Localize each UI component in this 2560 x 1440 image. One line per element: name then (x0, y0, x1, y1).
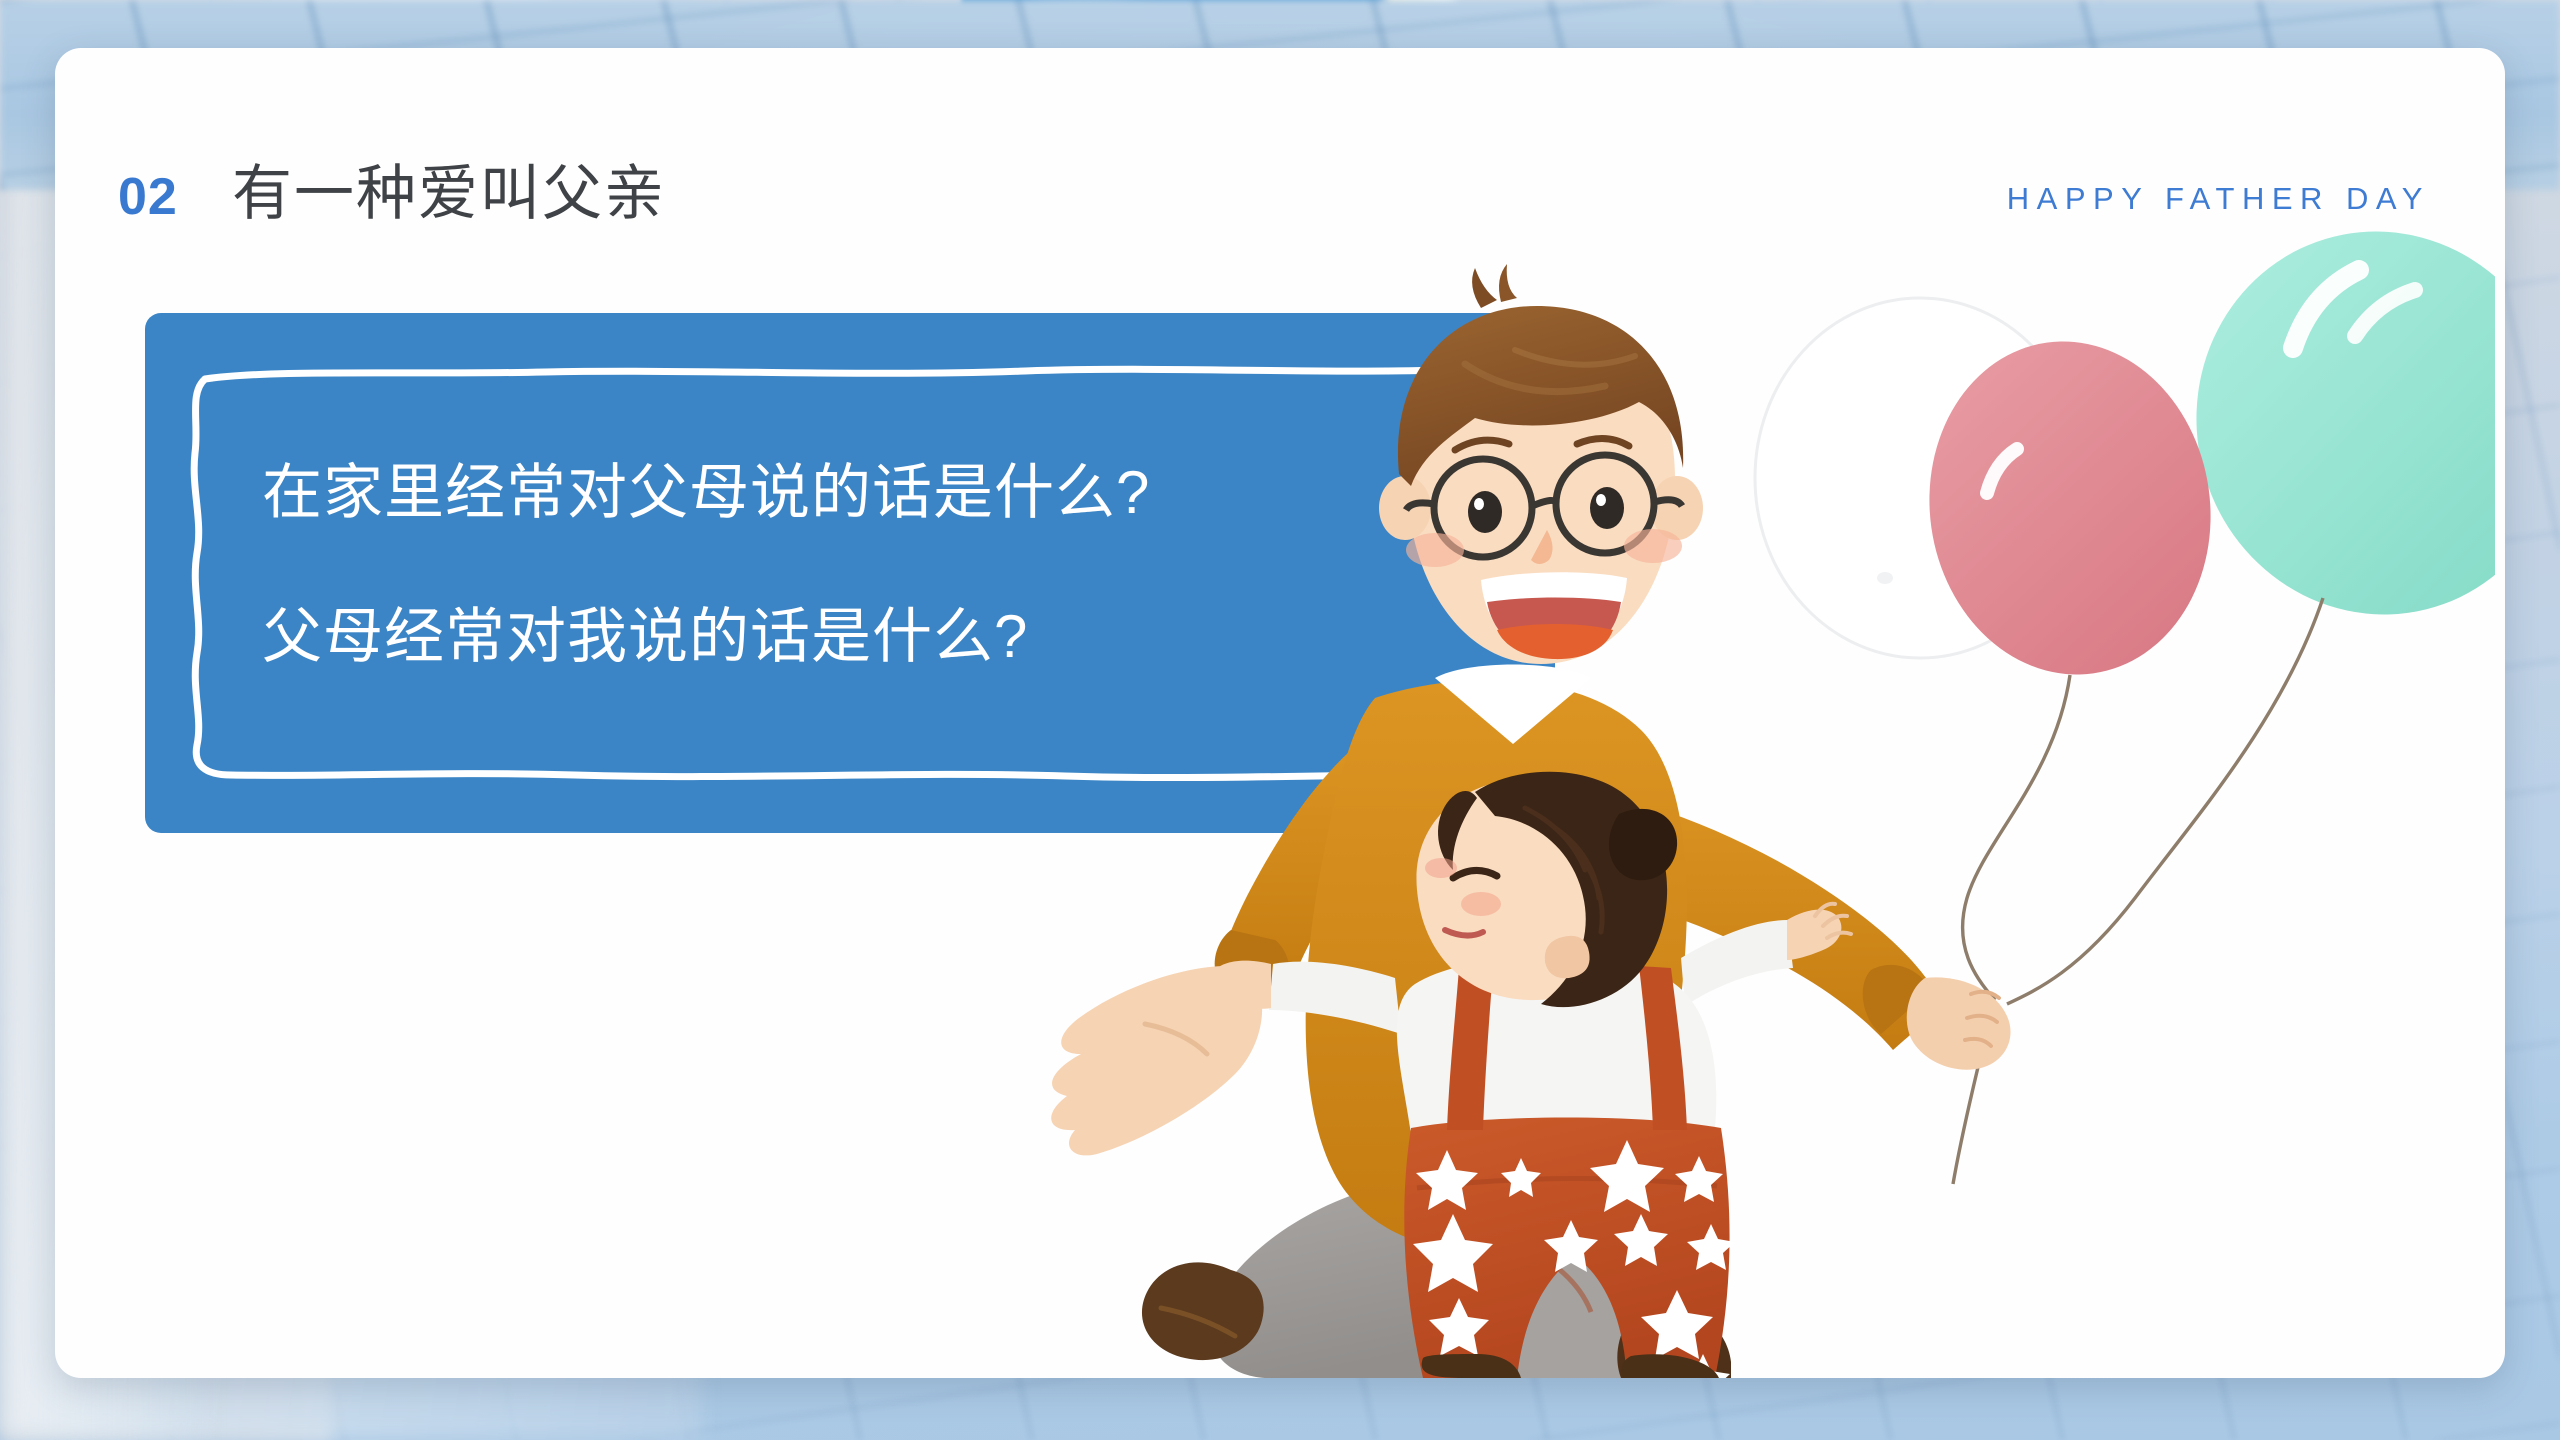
father-eye-left (1468, 491, 1502, 533)
father-right-hand (1907, 977, 2011, 1069)
father-shoe-left (1142, 1262, 1264, 1360)
father-eye-right (1590, 487, 1624, 529)
balloon-mint (2156, 192, 2495, 653)
balloon-white-knot (1877, 572, 1893, 584)
child-arm-right (1681, 920, 1793, 1006)
father-head (1379, 264, 1703, 664)
balloon-strings (1953, 598, 2323, 1184)
page-title: 有一种爱叫父亲 (232, 164, 666, 224)
balloon-mint-group (2156, 192, 2495, 653)
illustration-father-and-child (675, 178, 2495, 1378)
illustration-svg (675, 178, 2495, 1378)
slide-card: 02 有一种爱叫父亲 HAPPY FATHER DAY 在家里经常对父母说的话是… (55, 48, 2505, 1378)
slide-root: 02 有一种爱叫父亲 HAPPY FATHER DAY 在家里经常对父母说的话是… (0, 0, 2560, 1440)
section-number: 02 (118, 171, 178, 223)
